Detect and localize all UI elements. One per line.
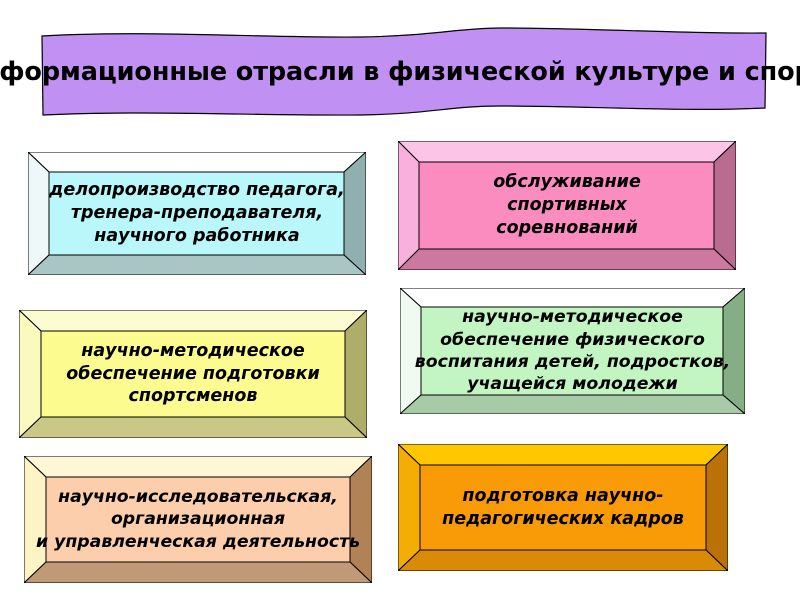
box-bevel-frame <box>398 141 736 270</box>
box-podgotovka-sportsmenov[interactable]: научно-методическое обеспечение подготов… <box>19 310 367 438</box>
box-bevel-frame <box>400 288 745 414</box>
page-title: Информационные отрасли в физической куль… <box>30 26 775 118</box>
box-bevel-frame <box>24 456 372 583</box>
box-bevel-frame <box>398 444 728 571</box>
box-nauchno-pedagogicheskie-kadry[interactable]: подготовка научно- педагогических кадров <box>398 444 728 571</box>
box-fizicheskoe-vospitanie[interactable]: научно-методическое обеспечение физическ… <box>400 288 745 414</box>
title-banner: Информационные отрасли в физической куль… <box>30 26 775 118</box>
slide-canvas: Информационные отрасли в физической куль… <box>0 0 800 600</box>
box-bevel-frame <box>28 152 366 275</box>
box-bevel-frame <box>19 310 367 438</box>
box-obsluzhivanie-sorevnovanij[interactable]: обслуживание спортивных соревнований <box>398 141 736 270</box>
box-nauchno-issledovatelskaya[interactable]: научно-исследовательская, организационна… <box>24 456 372 583</box>
box-delo-proizvodstvo[interactable]: делопроизводство педагога, тренера-препо… <box>28 152 366 275</box>
